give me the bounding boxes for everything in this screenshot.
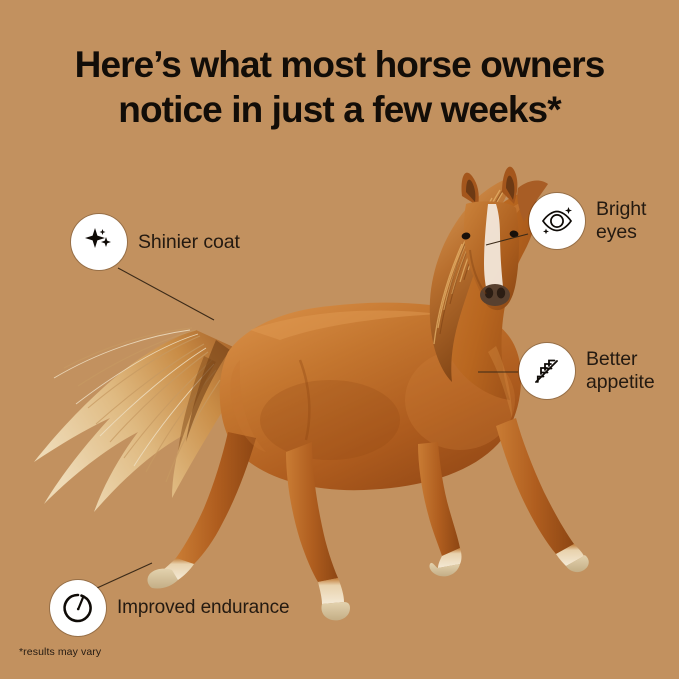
horse-leg-rear-right (286, 442, 350, 620)
footnote-disclaimer: *results may vary (19, 646, 101, 658)
horse-eye-left (461, 232, 471, 240)
callout-label-better-appetite: Better appetite (586, 348, 655, 394)
callout-bright-eyes[interactable]: Bright eyes (529, 193, 646, 249)
horse-body (220, 303, 521, 491)
callout-label-bright-eyes: Bright eyes (596, 198, 646, 244)
callout-better-appetite[interactable]: Better appetite (519, 343, 655, 399)
leader-line-bright-eyes (486, 234, 528, 245)
horse-leg-front-left (418, 442, 462, 576)
infographic-canvas: Here’s what most horse owners notice in … (0, 0, 679, 679)
callout-label-shinier-coat: Shinier coat (138, 231, 240, 254)
page-title: Here’s what most horse owners notice in … (0, 42, 679, 132)
leader-line-shinier-coat (118, 268, 214, 320)
badge-better-appetite[interactable] (519, 343, 575, 399)
sparkle-icon (82, 225, 116, 259)
horse-head (461, 167, 519, 310)
callout-label-improved-endurance: Improved endurance (117, 597, 289, 619)
badge-improved-endurance[interactable] (50, 580, 106, 636)
badge-shinier-coat[interactable] (71, 214, 127, 270)
badge-bright-eyes[interactable] (529, 193, 585, 249)
horse-leg-front-right (496, 418, 589, 572)
horse-tail (34, 328, 240, 512)
wheat-icon (530, 354, 564, 388)
stopwatch-icon (61, 591, 95, 625)
horse-eye-right (509, 230, 519, 238)
callout-improved-endurance[interactable]: Improved endurance (50, 580, 289, 636)
horse-leg-rear-left (148, 432, 257, 589)
eye-icon (539, 203, 575, 239)
callout-shinier-coat[interactable]: Shinier coat (71, 214, 240, 270)
